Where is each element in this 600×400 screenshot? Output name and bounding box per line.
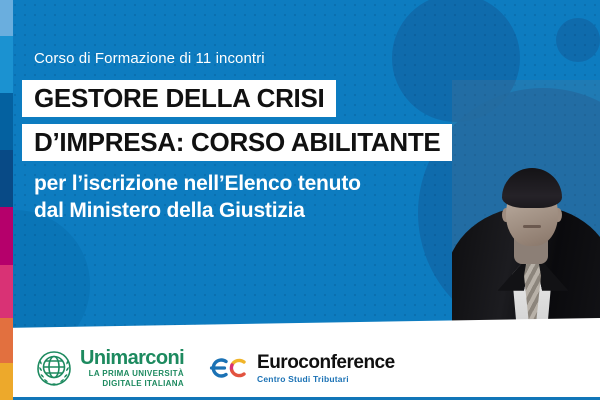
logo-row: Unimarconi LA PRIMA UNIVERSITÀ DIGITALE … — [34, 348, 395, 388]
stripe-segment-orange — [0, 318, 13, 363]
portrait-photo — [452, 80, 600, 338]
stripe-segment-yellow — [0, 363, 13, 400]
left-color-stripe — [0, 0, 13, 400]
unimarconi-logo[interactable]: Unimarconi LA PRIMA UNIVERSITÀ DIGITALE … — [34, 348, 184, 388]
subtitle-line-1: per l’iscrizione nell’Elenco tenuto — [34, 170, 361, 197]
stripe-segment-pink — [0, 265, 13, 318]
headline-group: GESTORE DELLA CRISI D’IMPRESA: CORSO ABI… — [22, 80, 452, 161]
subtitle-line-2: dal Ministero della Giustizia — [34, 197, 361, 224]
stripe-segment-magenta — [0, 207, 13, 265]
unimarconi-wordmark: Unimarconi LA PRIMA UNIVERSITÀ DIGITALE … — [80, 348, 184, 388]
euroconference-wordmark: Euroconference Centro Studi Tributari — [257, 353, 395, 384]
euroconference-tagline: Centro Studi Tributari — [257, 375, 395, 384]
portrait-grayscale-overlay — [452, 80, 600, 338]
promo-banner: Corso di Formazione di 11 incontri GESTO… — [0, 0, 600, 400]
ec-monogram-icon — [206, 354, 250, 382]
euroconference-name: Euroconference — [257, 353, 395, 372]
unimarconi-name: Unimarconi — [80, 348, 184, 368]
euroconference-logo[interactable]: Euroconference Centro Studi Tributari — [206, 353, 395, 384]
eyebrow-text: Corso di Formazione di 11 incontri — [34, 50, 265, 67]
stripe-segment-bright-blue — [0, 36, 13, 93]
subtitle-group: per l’iscrizione nell’Elenco tenuto dal … — [34, 170, 361, 224]
stripe-segment-light-blue — [0, 0, 13, 36]
headline-line-1: GESTORE DELLA CRISI — [22, 80, 336, 117]
headline-line-2: D’IMPRESA: CORSO ABILITANTE — [22, 124, 452, 161]
stripe-segment-medium-blue — [0, 93, 13, 150]
unimarconi-tagline-2: DIGITALE ITALIANA — [80, 380, 184, 388]
stripe-segment-navy-blue — [0, 150, 13, 207]
unimarconi-tagline-1: LA PRIMA UNIVERSITÀ — [80, 370, 184, 378]
laurel-wreath-globe-emblem-icon — [34, 348, 74, 388]
